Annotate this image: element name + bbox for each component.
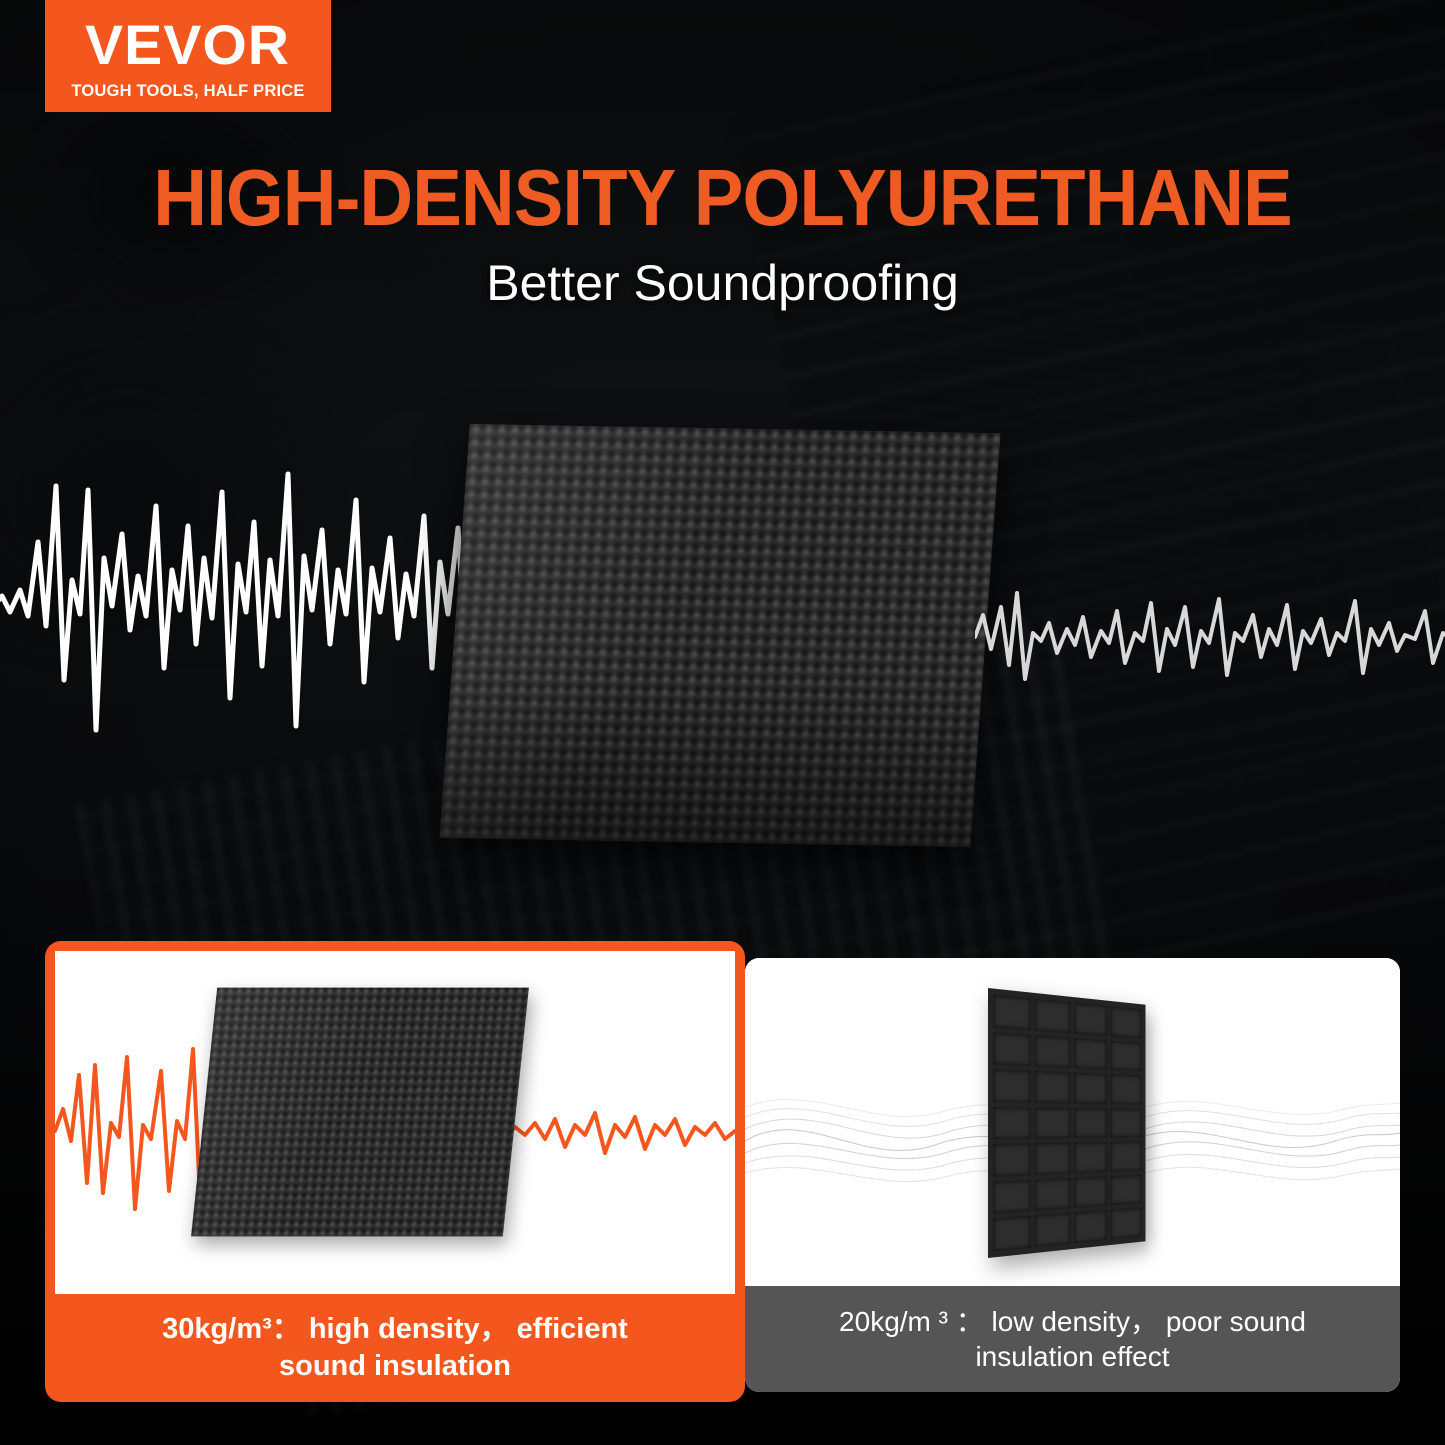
page-subtitle: Better Soundproofing — [0, 256, 1445, 311]
foam-cell — [1110, 1175, 1141, 1206]
foam-cell — [1074, 1073, 1107, 1104]
foam-cell — [1110, 1108, 1141, 1137]
foam-cell — [1110, 1142, 1141, 1172]
foam-cell — [993, 1032, 1030, 1066]
low-density-caption-line1: 20kg/m ³ ： low density， poor sound — [839, 1306, 1306, 1337]
hero-foam-panel — [439, 424, 1000, 847]
foam-cell — [993, 1069, 1030, 1102]
foam-cell — [1035, 1213, 1070, 1247]
high-density-illustration — [55, 951, 735, 1294]
page-title: HIGH-DENSITY POLYURETHANE — [51, 158, 1395, 238]
foam-cell — [1074, 1176, 1107, 1208]
foam-cell — [1035, 1143, 1070, 1175]
high-density-foam-panel — [191, 988, 529, 1237]
foam-cell — [1035, 1035, 1070, 1068]
foam-cell — [1035, 999, 1070, 1033]
low-density-caption-line2: insulation effect — [975, 1341, 1169, 1372]
foam-cell — [1110, 1208, 1141, 1240]
foam-cell — [1074, 1142, 1107, 1173]
foam-cell — [1035, 1107, 1070, 1138]
foam-cell — [993, 1107, 1030, 1139]
brand-name: VEVOR — [85, 17, 290, 73]
vevor-logo: VEVOR TOUGH TOOLS, HALF PRICE — [45, 0, 331, 112]
comparison-card-low-density: 20kg/m ³ ： low density， poor sound insul… — [745, 958, 1400, 1392]
product-banner: VEVOR TOUGH TOOLS, HALF PRICE HIGH-DENSI… — [0, 0, 1445, 1445]
foam-cell — [1110, 1040, 1141, 1071]
high-density-caption-line1: 30kg/m³： high density， efficient — [162, 1313, 628, 1345]
foam-cell — [993, 1216, 1030, 1251]
foam-cell — [993, 1180, 1030, 1214]
low-density-caption: 20kg/m ³ ： low density， poor sound insul… — [745, 1286, 1400, 1392]
comparison-card-high-density: 30kg/m³： high density， efficient sound i… — [45, 941, 745, 1402]
foam-cell — [993, 995, 1030, 1030]
foam-cell — [1110, 1074, 1141, 1104]
foam-cell — [1074, 1108, 1107, 1138]
high-density-caption: 30kg/m³： high density， efficient sound i… — [45, 1294, 745, 1402]
foam-cell — [1074, 1038, 1107, 1070]
high-density-caption-line2: sound insulation — [279, 1350, 511, 1382]
low-density-foam-panel — [988, 988, 1145, 1258]
foam-cell — [1074, 1003, 1107, 1036]
foam-cell — [1035, 1178, 1070, 1211]
outgoing-waveform — [975, 545, 1445, 725]
foam-cell — [993, 1144, 1030, 1177]
brand-tagline: TOUGH TOOLS, HALF PRICE — [71, 82, 304, 101]
foam-cell — [1110, 1006, 1141, 1038]
low-density-illustration — [745, 958, 1400, 1286]
foam-cell — [1035, 1071, 1070, 1103]
foam-cell — [1074, 1210, 1107, 1243]
